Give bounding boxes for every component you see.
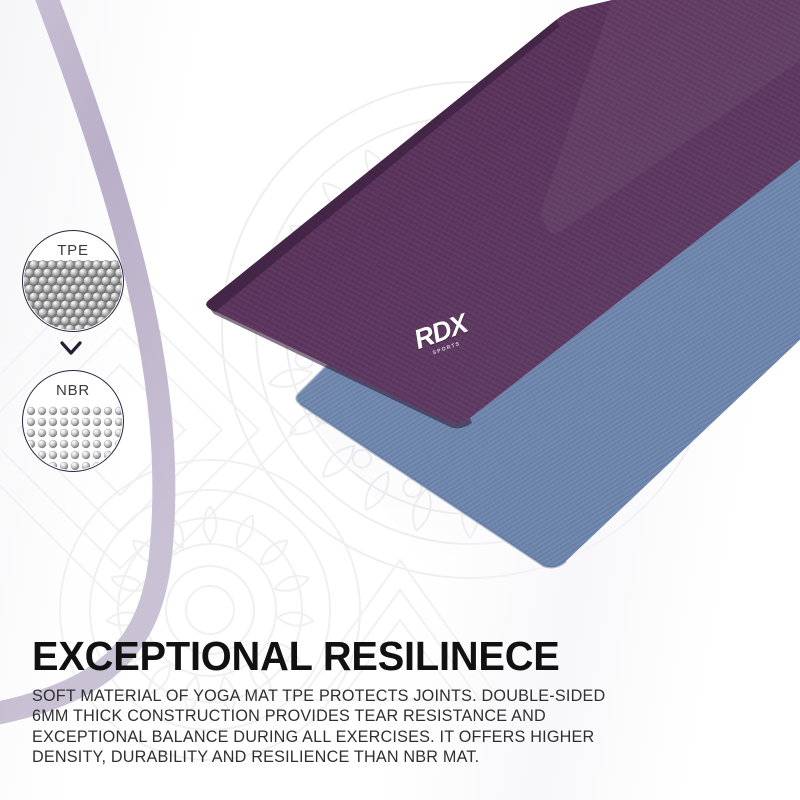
product-banner: RDX SPORTS TPE	[0, 0, 800, 800]
body-line: EXCEPTIONAL BALANCE DURING ALL EXERCISES…	[32, 727, 772, 747]
body-line: DENSITY, DURABILITY AND RESILIENCE THAN …	[32, 747, 772, 767]
material-badge-nbr: NBR	[22, 370, 124, 472]
copy-block: EXCEPTIONAL RESILINECE SOFT MATERIAL OF …	[32, 636, 772, 768]
body-line: 6MM THICK CONSTRUCTION PROVIDES TEAR RES…	[32, 706, 772, 726]
badge-label-nbr: NBR	[23, 382, 123, 399]
body-line: SOFT MATERIAL OF YOGA MAT TPE PROTECTS J…	[32, 686, 772, 706]
headline: EXCEPTIONAL RESILINECE	[32, 636, 750, 677]
material-badge-tpe: TPE	[22, 230, 124, 332]
chevron-down-icon	[56, 336, 86, 360]
body-copy: SOFT MATERIAL OF YOGA MAT TPE PROTECTS J…	[32, 686, 772, 768]
badge-label-tpe: TPE	[23, 242, 123, 259]
